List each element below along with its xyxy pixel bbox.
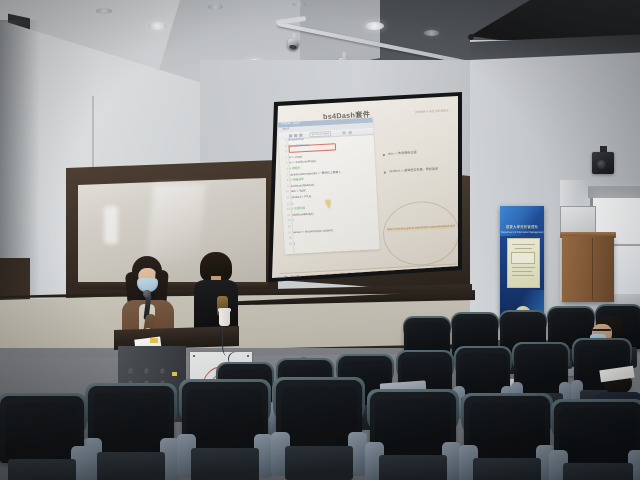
editor-line-number: 13 bbox=[287, 209, 290, 212]
whiteboard-glare-window bbox=[104, 206, 118, 244]
editor-code-line[interactable]: # 主要內容 bbox=[292, 208, 306, 212]
editor-code-line[interactable]: library(shiny) bbox=[288, 139, 304, 143]
banner-title: 建置大學資訊管理系 bbox=[503, 224, 541, 229]
editor-line-number: 14 bbox=[287, 215, 290, 218]
podium-text-icon: ㊣ bbox=[160, 368, 165, 375]
editor-line-number: 2 bbox=[285, 145, 287, 148]
editor-code-line[interactable]: skin = "light", bbox=[291, 191, 307, 195]
auditorium-seat[interactable] bbox=[554, 402, 640, 480]
save-icon[interactable] bbox=[289, 134, 292, 137]
downlight-icon bbox=[96, 8, 112, 14]
slide-decorative-circle bbox=[381, 200, 458, 268]
editor-line-number: 5 bbox=[286, 163, 288, 166]
editor-code-line[interactable]: ui <- page( bbox=[289, 156, 302, 160]
bullet-marker bbox=[384, 171, 386, 173]
editor-line-number: 7 bbox=[286, 174, 288, 177]
auditorium-seat[interactable] bbox=[182, 382, 268, 480]
assistant-person bbox=[192, 252, 240, 336]
editor-code-line[interactable]: dashboardHeader(title = "資料化工具箱"), bbox=[290, 171, 341, 177]
editor-line-number: 8 bbox=[287, 180, 289, 183]
editor-line-number: 12 bbox=[287, 203, 290, 206]
editor-code-line[interactable]: server <- function(input, output) { bbox=[293, 230, 333, 235]
editor-line-number: 9 bbox=[287, 186, 289, 189]
eyeglasses-icon bbox=[592, 329, 611, 331]
editor-code-line[interactable]: minified = TRUE bbox=[291, 196, 311, 200]
coffee-cup bbox=[219, 310, 230, 326]
whiteboard-glare bbox=[146, 184, 206, 260]
search-icon[interactable] bbox=[294, 134, 297, 137]
editor-line-number: 15 bbox=[287, 220, 290, 223]
downlight-icon bbox=[292, 2, 306, 7]
editor-line-number: 10 bbox=[286, 192, 289, 195]
editor-code-line[interactable]: ui <- dashboardPage( bbox=[289, 161, 316, 165]
auditorium-seat[interactable] bbox=[370, 392, 456, 480]
editor-code-line[interactable]: # 標題列 bbox=[290, 168, 301, 171]
microphone-head bbox=[143, 290, 151, 298]
podium-text-icon: ㊣ bbox=[144, 368, 149, 375]
source-on-save-button[interactable]: Source on Save bbox=[309, 131, 331, 137]
banner-subtitle: Department of Information Management bbox=[501, 231, 543, 234]
wooden-lectern bbox=[562, 236, 614, 302]
editor-line-number: 11 bbox=[286, 197, 289, 200]
auditorium-seat[interactable] bbox=[464, 396, 550, 480]
slide-bullet: skin -> 佈景顏色主題 bbox=[388, 150, 417, 156]
editor-line-number: 16 bbox=[288, 226, 291, 229]
lecture-hall-photo: bs4Dash套件 資訊應用 R 語言 資料視覺化 RStudio - app.… bbox=[0, 0, 640, 480]
lectern-side-board bbox=[560, 206, 596, 234]
podium-text-icon: ㊣ bbox=[128, 368, 133, 375]
downlight-icon bbox=[148, 22, 167, 30]
editor-code-line[interactable]: dashboardSidebar( bbox=[291, 184, 315, 188]
editor-line-number: 19 bbox=[289, 243, 292, 246]
slide-corner-note: 資訊應用 R 語言 資料視覺化 bbox=[415, 108, 449, 114]
find-icon[interactable] bbox=[299, 133, 302, 136]
downlight-icon bbox=[365, 22, 384, 30]
track-spotlight-icon bbox=[287, 32, 300, 50]
editor-line-number: 18 bbox=[288, 238, 291, 241]
projection-screen[interactable]: bs4Dash套件 資訊應用 R 語言 資料視覺化 RStudio - app.… bbox=[272, 96, 458, 278]
banner-certificate-highlight bbox=[511, 252, 535, 264]
rerun-icon[interactable] bbox=[349, 131, 352, 134]
editor-line-number: 6 bbox=[286, 168, 288, 171]
slide-content: bs4Dash套件 資訊應用 R 語言 資料視覺化 RStudio - app.… bbox=[272, 96, 458, 278]
podium-warning-label bbox=[172, 372, 177, 376]
editor-code-line[interactable]: dashboardBody() bbox=[292, 213, 313, 217]
lectern-panel-seam bbox=[592, 238, 593, 300]
editor-code-line[interactable]: # 側邊選單 bbox=[290, 179, 304, 183]
speaker-cone-icon bbox=[597, 160, 606, 169]
rstudio-window-title: RStudio - app.R bbox=[281, 122, 300, 126]
auditorium-seat[interactable] bbox=[276, 380, 362, 480]
auditorium-seat[interactable] bbox=[88, 386, 174, 480]
editor-code-line[interactable]: ) bbox=[293, 220, 294, 223]
editor-code-line[interactable]: } bbox=[294, 243, 295, 246]
editor-line-number: 1 bbox=[285, 140, 287, 143]
editor-line-number: 4 bbox=[286, 157, 288, 160]
run-icon[interactable] bbox=[342, 131, 345, 134]
rstudio-window[interactable]: RStudio - app.R app.R Source on Save 123… bbox=[278, 117, 380, 254]
podium-warning-label bbox=[150, 338, 158, 343]
editor-code-line[interactable]: ), bbox=[292, 203, 294, 206]
slide-bullet: minified -> 選單是否折疊，預設為真 bbox=[389, 167, 438, 174]
editor-line-number: 17 bbox=[288, 232, 291, 235]
downlight-icon bbox=[208, 4, 223, 10]
auditorium-seat[interactable] bbox=[0, 396, 84, 480]
bullet-marker bbox=[383, 154, 385, 156]
window-blind[interactable] bbox=[588, 186, 640, 198]
rstudio-tab-app-r[interactable]: app.R bbox=[282, 128, 289, 131]
downlight-icon bbox=[424, 30, 439, 36]
editor-line-number: 3 bbox=[285, 151, 287, 154]
